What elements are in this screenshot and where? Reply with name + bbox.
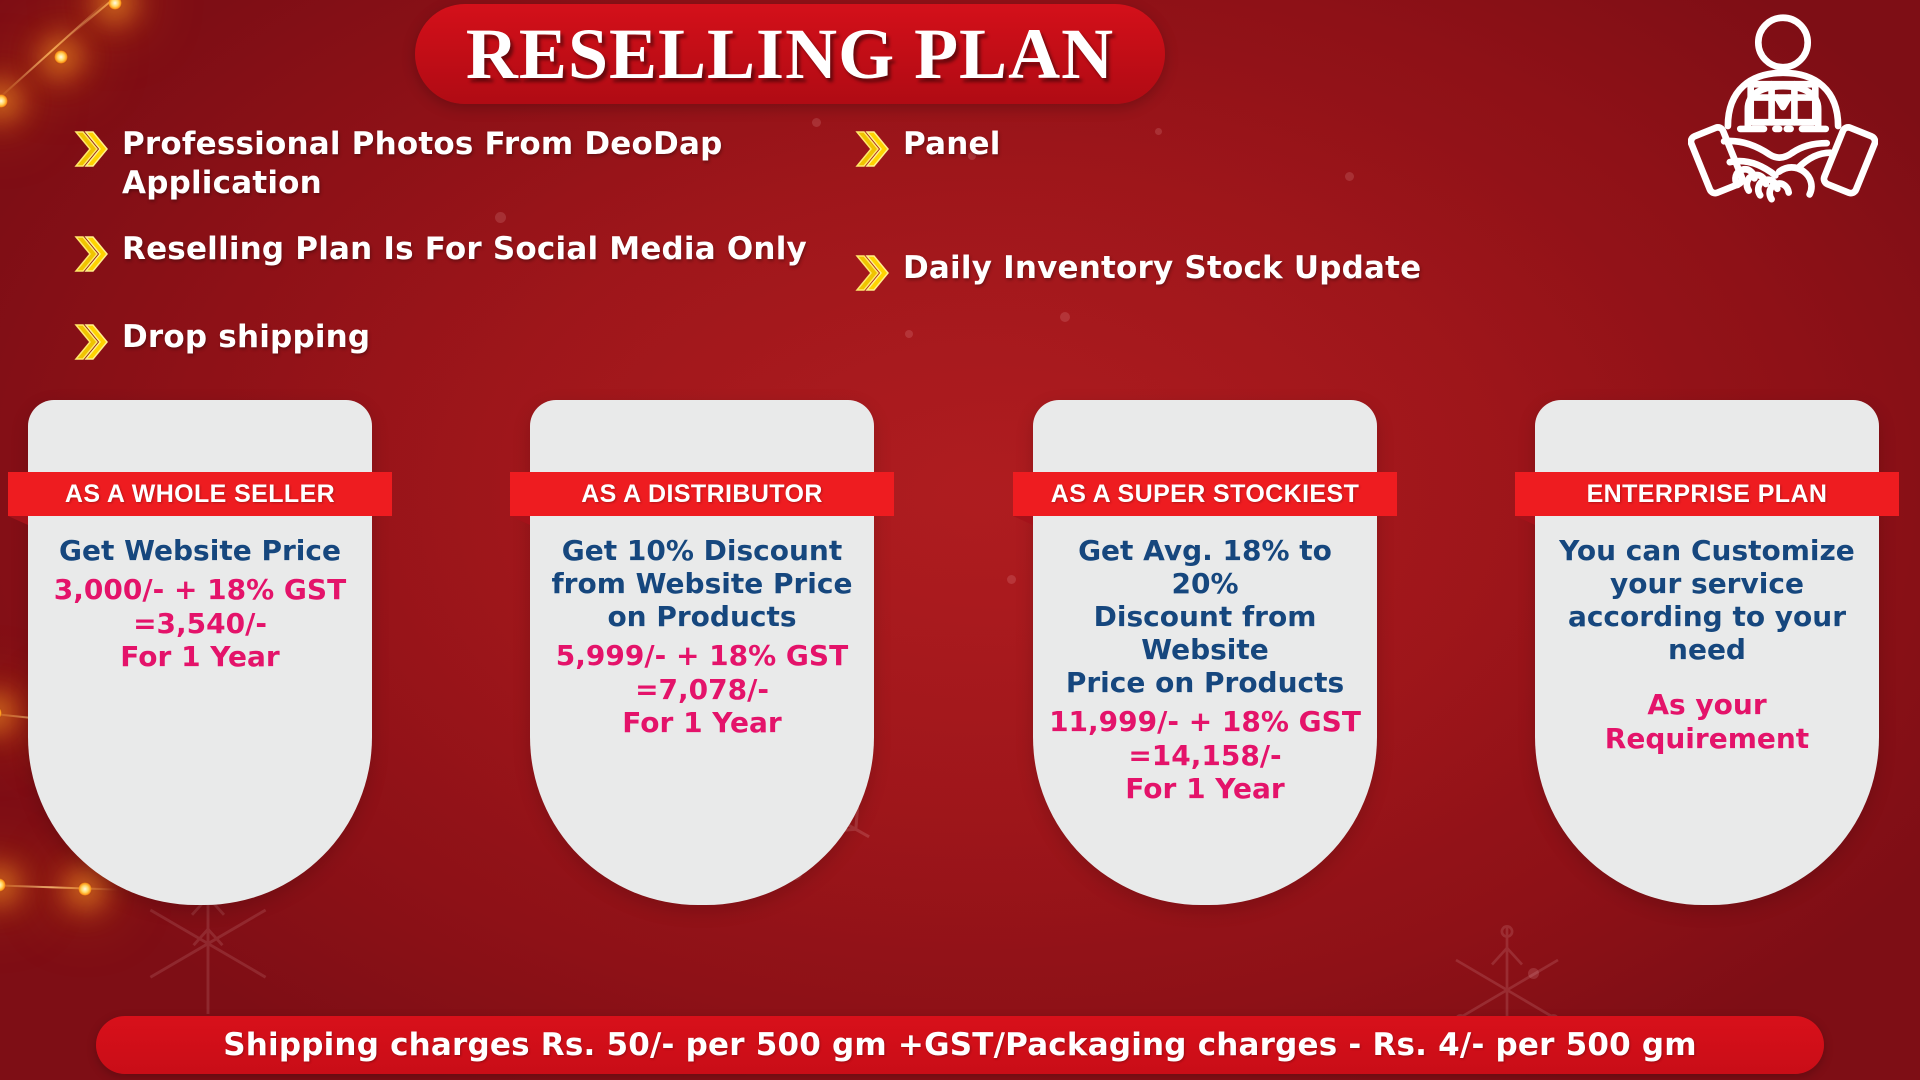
plan-card-enterprise[interactable]: ENTERPRISE PLAN You can Customize your s… [1535, 400, 1879, 905]
plan-price: As your Requirement [1551, 688, 1863, 755]
handshake-deal-icon [1688, 8, 1878, 208]
feature-label: Panel [903, 125, 1001, 164]
plan-card-whole-seller[interactable]: AS A WHOLE SELLER Get Website Price 3,00… [28, 400, 372, 905]
plan-ribbon-label: AS A SUPER STOCKIEST [1051, 480, 1360, 509]
plan-ribbon: AS A DISTRIBUTOR [510, 472, 894, 516]
plan-ribbon-label: AS A DISTRIBUTOR [581, 480, 823, 509]
feature-item: Reselling Plan Is For Social Media Only [74, 230, 834, 274]
plan-heading: You can Customize your service according… [1551, 534, 1863, 666]
feature-label: Professional Photos From DeoDap Applicat… [122, 125, 834, 204]
title-banner: RESELLING PLAN [415, 4, 1165, 104]
plan-card-body: Get Avg. 18% to 20% Discount from Websit… [1033, 522, 1377, 806]
footer-note: Shipping charges Rs. 50/- per 500 gm +GS… [223, 1027, 1697, 1063]
plan-card-body: Get 10% Discount from Website Price on P… [530, 522, 874, 740]
plan-ribbon-label: ENTERPRISE PLAN [1587, 480, 1828, 509]
light-bulb [54, 50, 68, 64]
features-column-left: Professional Photos From DeoDap Applicat… [74, 125, 834, 362]
feature-label: Reselling Plan Is For Social Media Only [122, 230, 807, 269]
double-chevron-right-icon [855, 253, 889, 293]
double-chevron-right-icon [74, 129, 108, 169]
plan-price: 11,999/- + 18% GST =14,158/- For 1 Year [1049, 705, 1361, 806]
plan-card-body: Get Website Price 3,000/- + 18% GST =3,5… [28, 522, 372, 674]
plan-heading: Get Website Price [44, 534, 356, 567]
poster-root: RESELLING PLAN [0, 0, 1920, 1080]
double-chevron-right-icon [855, 129, 889, 169]
double-chevron-right-icon [74, 322, 108, 362]
double-chevron-right-icon [74, 234, 108, 274]
plan-cards: AS A WHOLE SELLER Get Website Price 3,00… [0, 400, 1920, 920]
light-bulb [0, 94, 8, 108]
footer-bar: Shipping charges Rs. 50/- per 500 gm +GS… [96, 1016, 1824, 1074]
feature-item: Drop shipping [74, 318, 834, 362]
feature-label: Daily Inventory Stock Update [903, 249, 1421, 288]
plan-ribbon: ENTERPRISE PLAN [1515, 472, 1899, 516]
plan-card-distributor[interactable]: AS A DISTRIBUTOR Get 10% Discount from W… [530, 400, 874, 905]
light-bulb [108, 0, 122, 10]
plan-heading: Get 10% Discount from Website Price on P… [546, 534, 858, 633]
page-title: RESELLING PLAN [466, 13, 1114, 96]
feature-item: Professional Photos From DeoDap Applicat… [74, 125, 834, 204]
plan-price: 5,999/- + 18% GST =7,078/- For 1 Year [546, 639, 858, 740]
dust-speck [905, 330, 913, 338]
plan-ribbon: AS A WHOLE SELLER [8, 472, 392, 516]
feature-item: Panel [855, 125, 1475, 169]
dust-speck [1528, 968, 1539, 979]
plan-price: 3,000/- + 18% GST =3,540/- For 1 Year [44, 573, 356, 674]
feature-label: Drop shipping [122, 318, 370, 357]
plan-card-body: You can Customize your service according… [1535, 522, 1879, 755]
feature-item: Daily Inventory Stock Update [855, 249, 1475, 293]
features-column-right: Panel Daily Inventory Stock Update [855, 125, 1475, 293]
plan-ribbon-label: AS A WHOLE SELLER [65, 480, 335, 509]
plan-ribbon: AS A SUPER STOCKIEST [1013, 472, 1397, 516]
plan-card-super-stockiest[interactable]: AS A SUPER STOCKIEST Get Avg. 18% to 20%… [1033, 400, 1377, 905]
plan-heading: Get Avg. 18% to 20% Discount from Websit… [1049, 534, 1361, 699]
dust-speck [1060, 312, 1070, 322]
